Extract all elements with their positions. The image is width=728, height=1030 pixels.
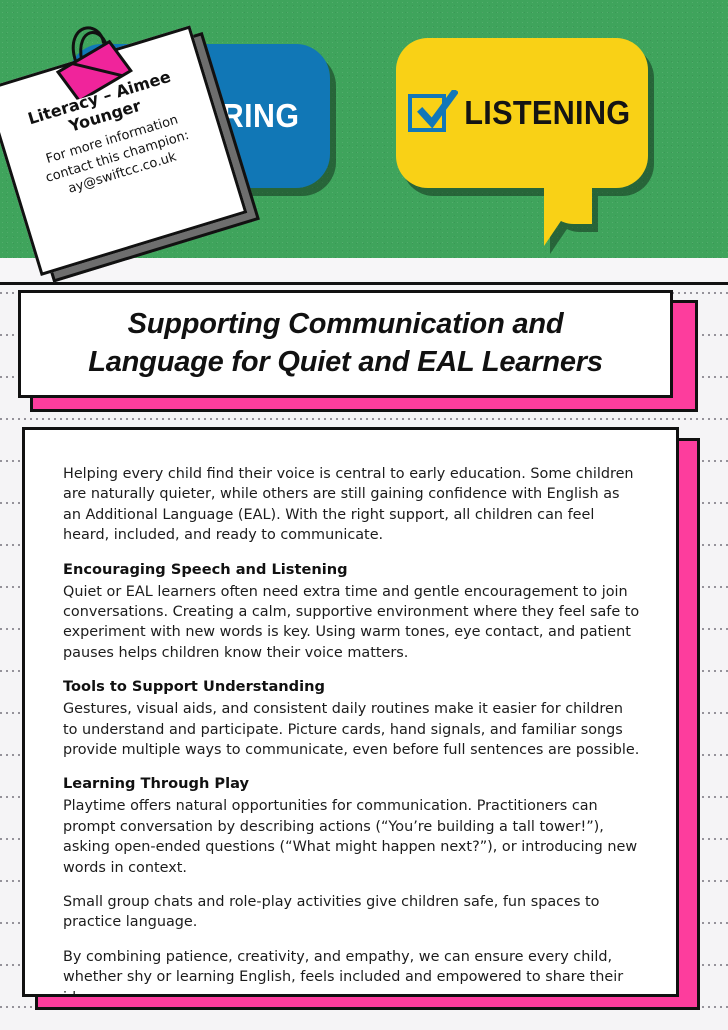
content-card: Helping every child find their voice is … [22,427,679,997]
background-rule [0,418,728,420]
section-body: Playtime offers natural opportunities fo… [63,796,640,878]
header-divider-rule [0,282,728,285]
section-learning-through-play: Learning Through Play Playtime offers na… [63,774,640,878]
section-tools-to-support-understanding: Tools to Support Understanding Gestures,… [63,677,640,760]
page-title-line-2: Language for Quiet and EAL Learners [88,344,603,382]
section-body: Quiet or EAL learners often need extra t… [63,582,640,664]
page-title: Supporting Communication and Language fo… [18,290,673,398]
intro-paragraph: Helping every child find their voice is … [63,464,640,546]
section-heading: Encouraging Speech and Listening [63,560,640,581]
section-heading: Tools to Support Understanding [63,677,640,698]
checkbox-checked-icon [408,94,446,132]
bubble-listening-wrapper[interactable]: LISTENING [396,38,648,243]
section-encouraging-speech-and-listening: Encouraging Speech and Listening Quiet o… [63,560,640,664]
closing-paragraph-2: By combining patience, creativity, and e… [63,947,640,997]
speech-bubble-tail-point [544,178,590,246]
bubble-listening[interactable]: LISTENING [396,38,648,188]
section-body: Gestures, visual aids, and consistent da… [63,699,640,760]
closing-paragraph-1: Small group chats and role-play activiti… [63,892,640,933]
bubble-listening-label: LISTENING [464,94,630,132]
page-title-line-1: Supporting Communication and [128,306,564,344]
section-heading: Learning Through Play [63,774,640,795]
